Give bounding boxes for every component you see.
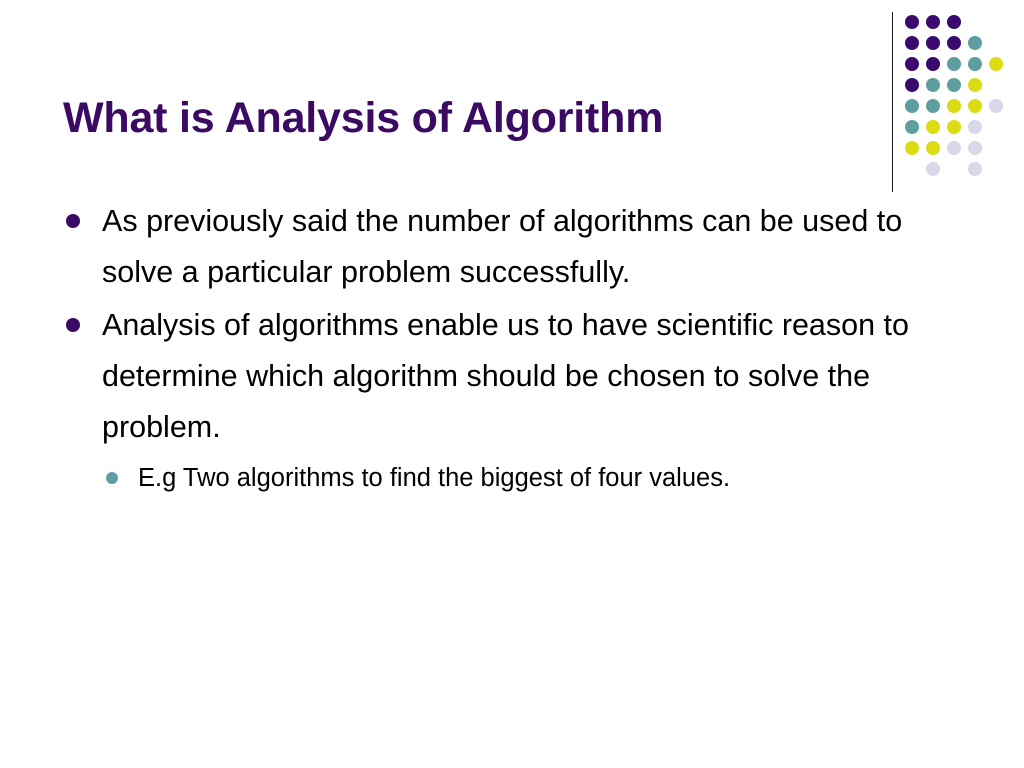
sub-bullet-item: E.g Two algorithms to find the biggest o…	[0, 456, 1024, 500]
bullet-text: Analysis of algorithms enable us to have…	[102, 300, 964, 453]
grid-dot-yellow	[989, 57, 1003, 71]
dot-grid	[905, 15, 1020, 195]
grid-dot-yellow	[926, 120, 940, 134]
grid-dot-teal	[905, 99, 919, 113]
grid-dot-yellow	[905, 141, 919, 155]
grid-dot-purple	[905, 15, 919, 29]
grid-dot-purple	[905, 36, 919, 50]
grid-dot-lavender	[968, 120, 982, 134]
bullet-item: Analysis of algorithms enable us to have…	[0, 300, 1024, 453]
slide-canvas: What is Analysis of Algorithm As previou…	[0, 0, 1024, 768]
grid-dot-lavender	[968, 141, 982, 155]
grid-dot-yellow	[968, 78, 982, 92]
grid-dot-yellow	[947, 99, 961, 113]
grid-dot-teal	[947, 57, 961, 71]
grid-dot-purple	[947, 36, 961, 50]
grid-dot-teal	[926, 78, 940, 92]
grid-dot-teal	[905, 120, 919, 134]
grid-dot-teal	[947, 78, 961, 92]
grid-dot-lavender	[968, 162, 982, 176]
grid-dot-purple	[926, 57, 940, 71]
grid-dot-purple	[947, 15, 961, 29]
grid-dot-purple	[905, 57, 919, 71]
grid-dot-teal	[968, 57, 982, 71]
grid-dot-teal	[926, 99, 940, 113]
grid-dot-lavender	[947, 141, 961, 155]
round-bullet-icon	[106, 472, 118, 484]
slide-body: As previously said the number of algorit…	[0, 196, 1024, 500]
grid-dot-purple	[905, 78, 919, 92]
grid-dot-lavender	[989, 99, 1003, 113]
grid-dot-lavender	[926, 162, 940, 176]
vertical-divider-line	[892, 12, 893, 192]
grid-dot-yellow	[968, 99, 982, 113]
grid-dot-yellow	[947, 120, 961, 134]
sub-bullet-text: E.g Two algorithms to find the biggest o…	[138, 456, 964, 500]
round-bullet-icon	[66, 214, 80, 228]
grid-dot-purple	[926, 36, 940, 50]
dot-grid-decoration	[884, 4, 1024, 199]
round-bullet-icon	[66, 318, 80, 332]
bullet-item: As previously said the number of algorit…	[0, 196, 1024, 298]
slide-title: What is Analysis of Algorithm	[63, 92, 863, 144]
bullet-text: As previously said the number of algorit…	[102, 196, 964, 298]
grid-dot-purple	[926, 15, 940, 29]
grid-dot-yellow	[926, 141, 940, 155]
grid-dot-teal	[968, 36, 982, 50]
